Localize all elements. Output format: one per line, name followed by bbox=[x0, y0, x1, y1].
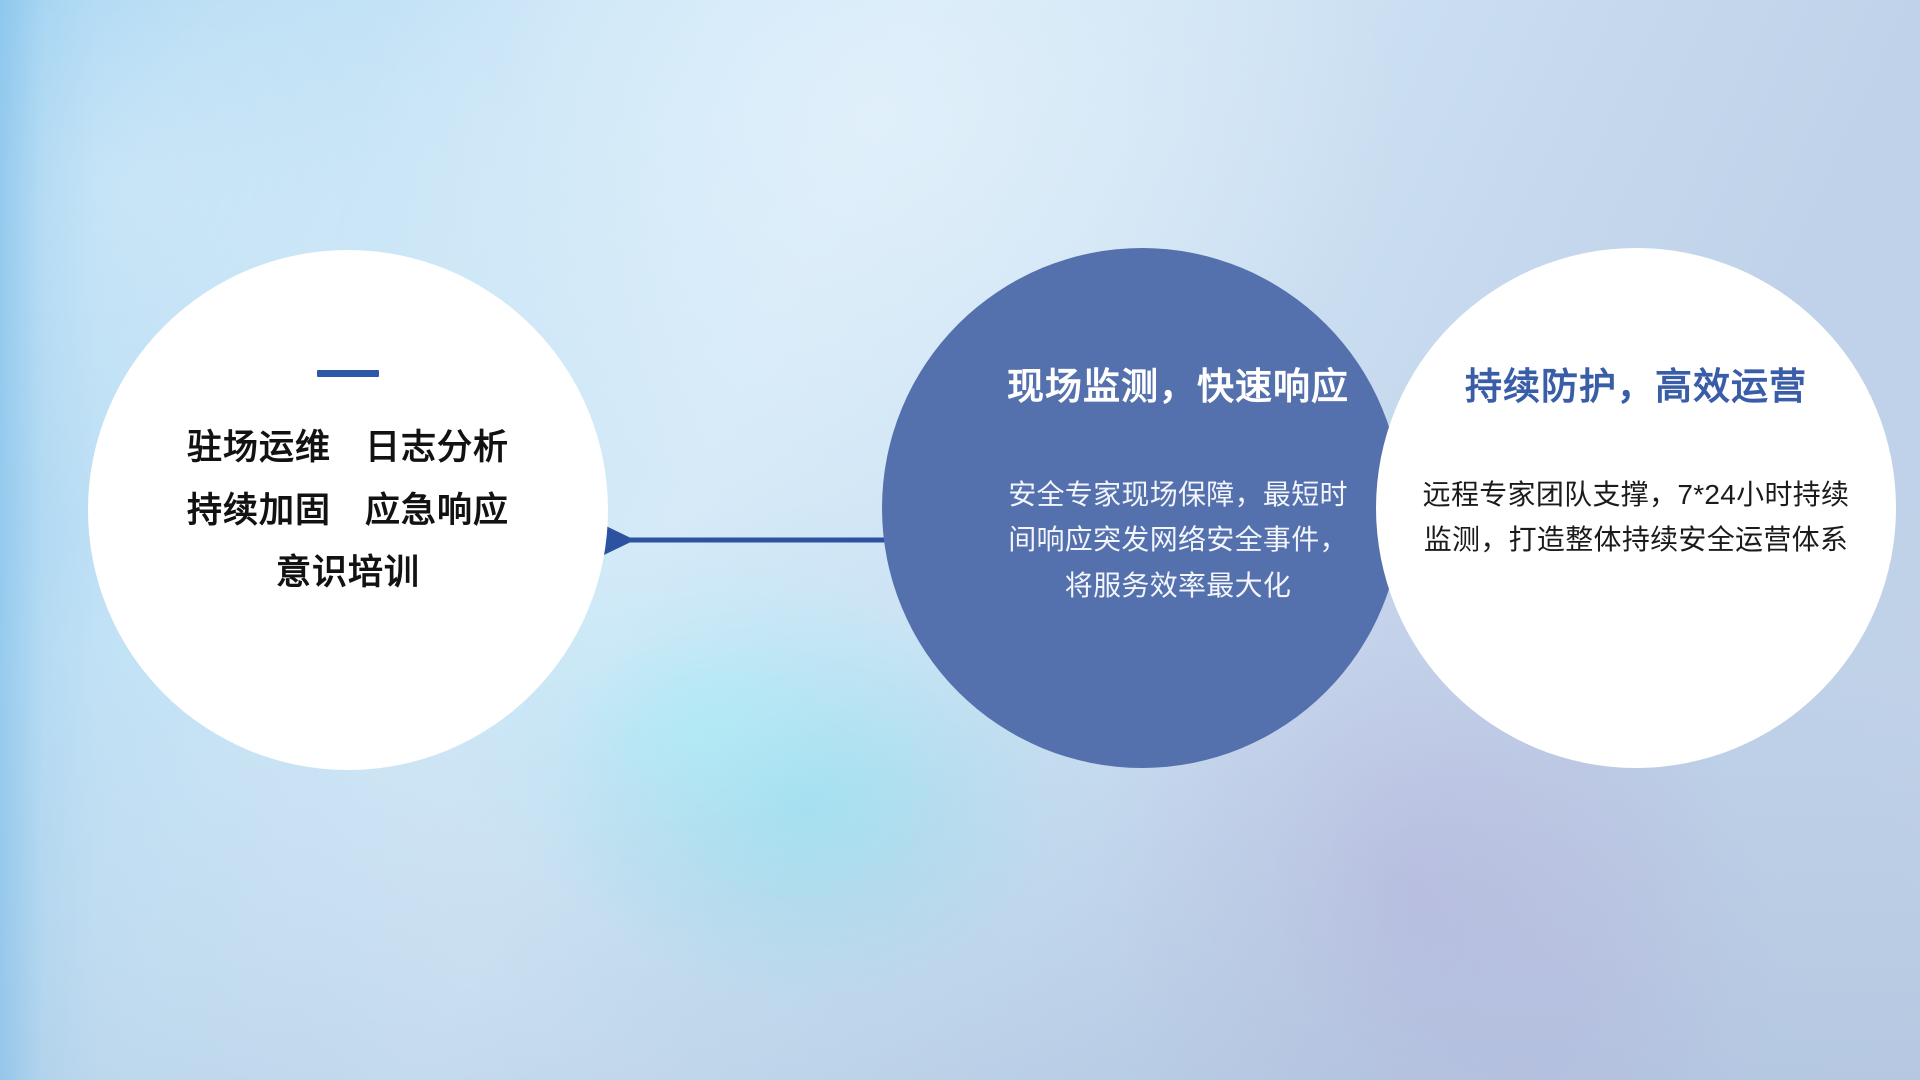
capability-keyword[interactable]: 持续加固 bbox=[187, 492, 331, 531]
card-continuous-operations-body: 远程专家团队支撑，7*24小时持续监测，打造整体持续安全运营体系 bbox=[1420, 472, 1852, 563]
capability-row: 持续加固 应急响应 bbox=[187, 492, 509, 531]
capability-keyword[interactable]: 日志分析 bbox=[365, 429, 509, 468]
slide-canvas: 现场监测，快速响应 安全专家现场保障，最短时间响应突发网络安全事件，将服务效率最… bbox=[0, 0, 1920, 1080]
card-continuous-operations[interactable]: 持续防护，高效运营 远程专家团队支撑，7*24小时持续监测，打造整体持续安全运营… bbox=[1376, 248, 1896, 768]
card-onsite-response[interactable]: 现场监测，快速响应 安全专家现场保障，最短时间响应突发网络安全事件，将服务效率最… bbox=[882, 248, 1402, 768]
capability-keyword[interactable]: 应急响应 bbox=[365, 492, 509, 531]
card-continuous-operations-content: 持续防护，高效运营 远程专家团队支撑，7*24小时持续监测，打造整体持续安全运营… bbox=[1376, 248, 1896, 768]
divider-dash bbox=[317, 370, 379, 377]
capability-row: 驻场运维 日志分析 bbox=[187, 429, 509, 468]
card-capabilities[interactable]: 驻场运维 日志分析 持续加固 应急响应 意识培训 bbox=[88, 250, 608, 770]
card-onsite-response-body: 安全专家现场保障，最短时间响应突发网络安全事件，将服务效率最大化 bbox=[1008, 472, 1348, 608]
card-continuous-operations-title: 持续防护，高效运营 bbox=[1465, 356, 1807, 410]
capability-keyword[interactable]: 驻场运维 bbox=[187, 429, 331, 468]
card-onsite-response-content: 现场监测，快速响应 安全专家现场保障，最短时间响应突发网络安全事件，将服务效率最… bbox=[882, 248, 1402, 768]
capability-keyword[interactable]: 意识培训 bbox=[276, 554, 420, 593]
card-onsite-response-title: 现场监测，快速响应 bbox=[1007, 356, 1349, 410]
capability-keyword-list: 驻场运维 日志分析 持续加固 应急响应 意识培训 bbox=[187, 429, 509, 593]
capability-row: 意识培训 bbox=[276, 554, 420, 593]
